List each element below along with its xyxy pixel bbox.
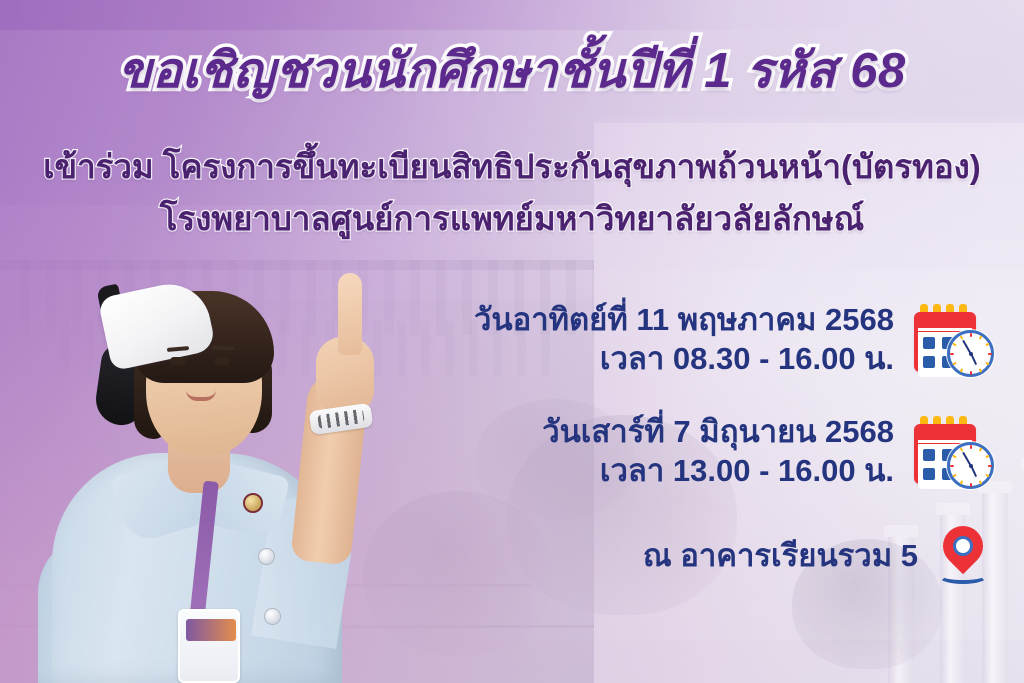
calendar-clock-icon: [914, 415, 992, 487]
eye-left: [170, 357, 186, 365]
map-pin-icon: [934, 524, 992, 586]
map-pin-base-ellipse: [938, 568, 988, 584]
schedule-time-1: เวลา 08.30 - 16.00 น.: [474, 339, 894, 378]
clock-center-pin: [969, 464, 973, 468]
poster-canvas: ขอเชิญชวนนักศึกษาชั้นปีที่ 1 รหัส 68 เข้…: [0, 0, 1024, 683]
nursing-student-figure: [0, 253, 440, 683]
schedule-text-1: วันอาทิตย์ที่ 11 พฤษภาคม 2568 เวลา 08.30…: [474, 300, 894, 378]
calendar-clock-icon: [914, 303, 992, 375]
poster-subline-hospital: โรงพยาบาลศูนย์การแพทย์มหาวิทยาลัยวลัยลัก…: [0, 192, 1024, 245]
calendar-cell: [923, 356, 935, 368]
headline-container: ขอเชิญชวนนักศึกษาชั้นปีที่ 1 รหัส 68: [0, 46, 1024, 98]
eye-right: [214, 357, 230, 365]
schedule-time-2: เวลา 13.00 - 16.00 น.: [542, 451, 894, 490]
schedule-row-2: วันเสาร์ที่ 7 มิถุนายน 2568 เวลา 13.00 -…: [462, 412, 992, 490]
event-info-block: วันอาทิตย์ที่ 11 พฤษภาคม 2568 เวลา 08.30…: [462, 300, 992, 586]
uniform-emblem-pin: [243, 493, 263, 513]
schedule-date-2: วันเสาร์ที่ 7 มิถุนายน 2568: [542, 414, 894, 449]
schedule-row-1: วันอาทิตย์ที่ 11 พฤษภาคม 2568 เวลา 08.30…: [462, 300, 992, 378]
uniform-button: [264, 608, 281, 625]
schedule-date-1: วันอาทิตย์ที่ 11 พฤษภาคม 2568: [474, 302, 894, 337]
clock-center-pin: [969, 352, 973, 356]
calendar-cell: [923, 449, 935, 461]
uniform-button: [258, 548, 275, 565]
calendar-cell: [923, 468, 935, 480]
schedule-text-2: วันเสาร์ที่ 7 มิถุนายน 2568 เวลา 13.00 -…: [542, 412, 894, 490]
pointing-index-finger: [338, 273, 362, 355]
background-top-band: [0, 0, 1024, 30]
poster-headline: ขอเชิญชวนนักศึกษาชั้นปีที่ 1 รหัส 68: [118, 46, 905, 98]
calendar-cell: [923, 337, 935, 349]
id-badge: [178, 609, 240, 683]
location-row: ณ อาคารเรียนรวม 5: [462, 524, 992, 586]
clock-icon: [947, 330, 994, 377]
poster-subline-program: เข้าร่วม โครงการขึ้นทะเบียนสิทธิประกันสุ…: [0, 140, 1024, 193]
location-text: ณ อาคารเรียนรวม 5: [643, 536, 918, 575]
clock-icon: [947, 442, 994, 489]
